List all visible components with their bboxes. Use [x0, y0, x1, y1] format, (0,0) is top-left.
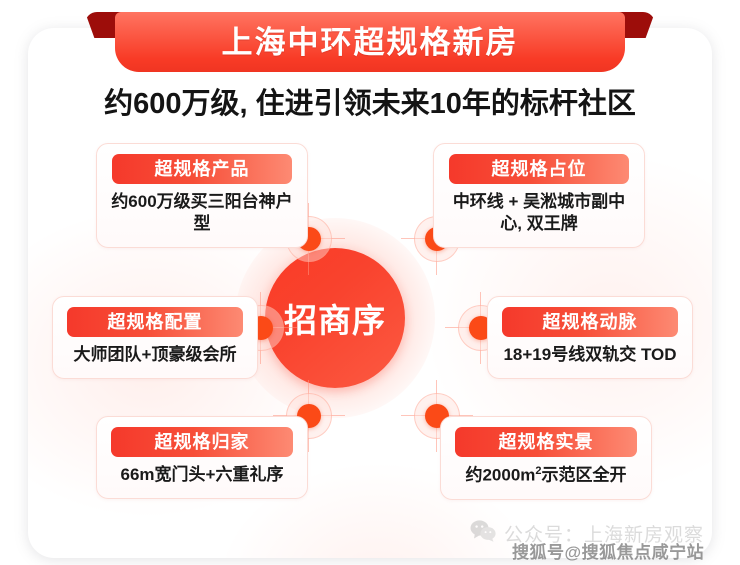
feature-pill: 超规格产品: [112, 154, 292, 184]
feature-pill-label: 超规格归家: [155, 433, 250, 451]
feature-pill: 超规格实景: [455, 427, 637, 457]
feature-card-product: 超规格产品 约600万级买三阳台神户型: [96, 143, 308, 248]
feature-body: 大师团队+顶豪级会所: [63, 344, 247, 366]
feature-body: 约600万级买三阳台神户型: [107, 191, 297, 235]
infographic-stage: 上海中环超规格新房 约600万级, 住进引领未来10年的标杆社区 招商序: [0, 0, 740, 565]
feature-pill: 超规格占位: [449, 154, 629, 184]
showroom-area-unit: m: [520, 466, 535, 485]
feature-body: 中环线 + 吴淞城市副中心, 双王牌: [444, 191, 634, 235]
feature-card-location: 超规格占位 中环线 + 吴淞城市副中心, 双王牌: [433, 143, 645, 248]
feature-pill-label: 超规格配置: [108, 313, 203, 331]
feature-body: 约2000m2示范区全开: [451, 464, 641, 487]
showroom-area-suffix: 示范区全开: [542, 466, 627, 485]
ribbon-body: 上海中环超规格新房: [115, 12, 625, 72]
feature-pill-label: 超规格实景: [499, 433, 594, 451]
wechat-icon: [470, 520, 496, 547]
page-subtitle: 约600万级, 住进引领未来10年的标杆社区: [0, 80, 740, 122]
feature-body: 18+19号线双轨交 TOD: [498, 344, 682, 366]
hub-label: 招商序: [284, 294, 386, 342]
showroom-area-prefix: 约2000: [465, 466, 520, 485]
hub-circle: 招商序: [265, 248, 405, 388]
feature-card-showroom: 超规格实景 约2000m2示范区全开: [440, 416, 652, 500]
feature-pill: 超规格归家: [111, 427, 293, 457]
feature-card-configuration: 超规格配置 大师团队+顶豪级会所: [52, 296, 258, 379]
feature-pill-label: 超规格产品: [155, 160, 250, 178]
feature-card-transit: 超规格动脉 18+19号线双轨交 TOD: [487, 296, 693, 379]
sohu-watermark-text: 搜狐号@搜狐焦点咸宁站: [512, 538, 704, 563]
banner-title: 上海中环超规格新房: [222, 27, 519, 58]
banner-ribbon: 上海中环超规格新房: [85, 6, 655, 72]
feature-card-entrance: 超规格归家 66m宽门头+六重礼序: [96, 416, 308, 499]
feature-pill: 超规格动脉: [502, 307, 678, 337]
feature-body: 66m宽门头+六重礼序: [107, 464, 297, 486]
feature-pill-label: 超规格动脉: [543, 313, 638, 331]
feature-pill: 超规格配置: [67, 307, 243, 337]
feature-pill-label: 超规格占位: [492, 160, 587, 178]
